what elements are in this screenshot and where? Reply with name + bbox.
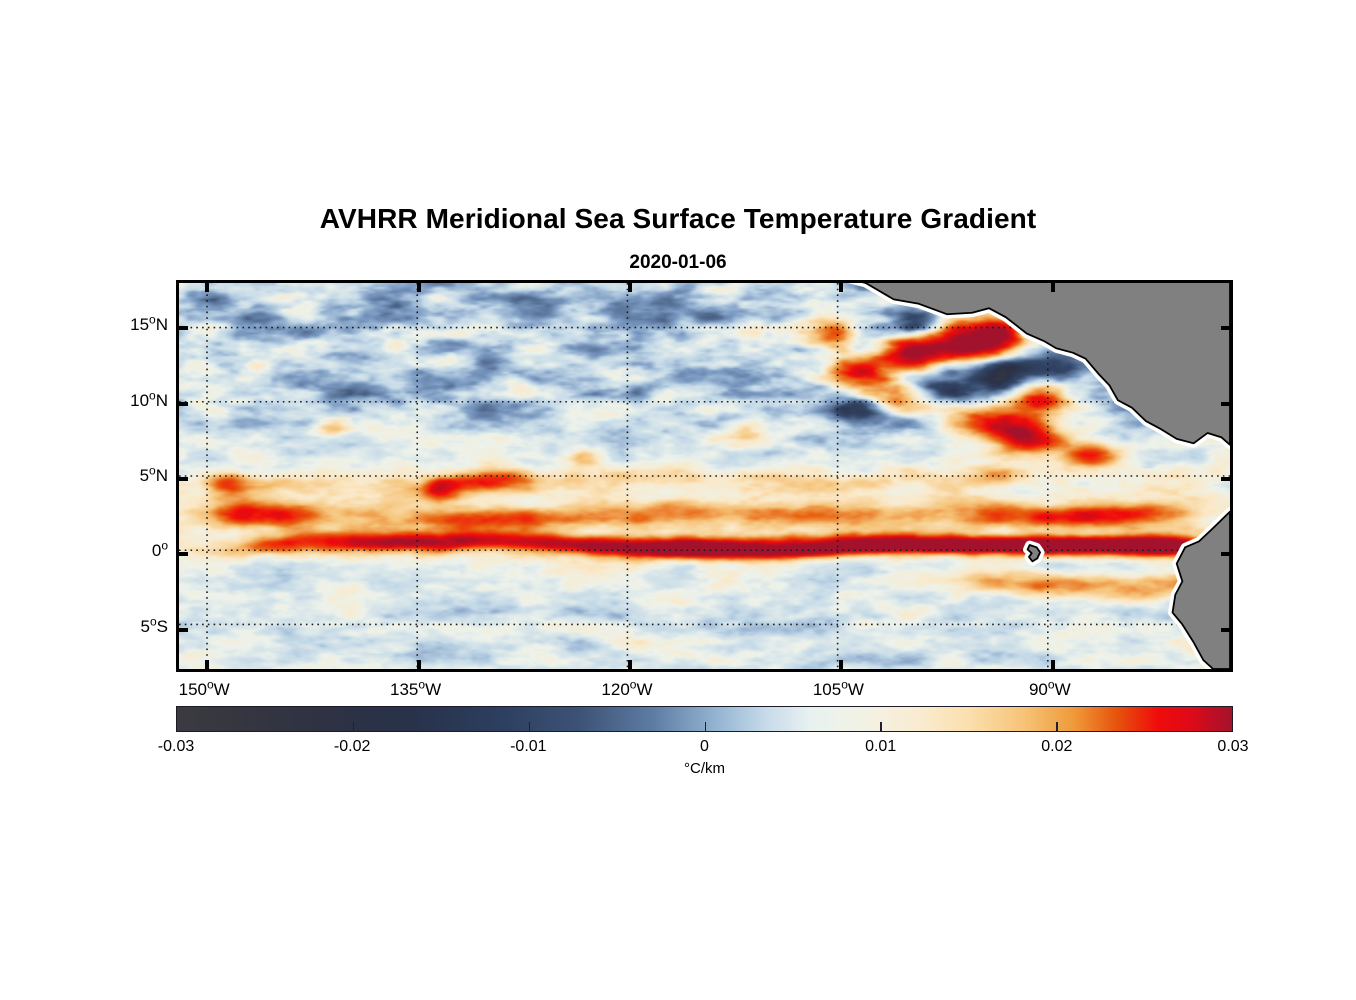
x-tick-label: 120oW: [601, 680, 652, 700]
y-tick-label: 5oN: [140, 466, 168, 486]
colorbar-tick-label: 0.01: [865, 738, 896, 756]
axis-tick-mark: [179, 552, 188, 556]
axis-tick-mark: [1221, 628, 1230, 632]
axis-tick-mark: [179, 326, 188, 330]
axis-tick-mark: [628, 283, 632, 292]
axis-tick-mark: [179, 628, 188, 632]
colorbar-tick-label: -0.02: [334, 738, 370, 756]
colorbar-tick: [880, 722, 882, 731]
axis-tick-mark: [1221, 326, 1230, 330]
y-tick-label: 10oN: [130, 391, 168, 411]
axis-tick-mark: [1051, 660, 1055, 669]
y-tick-label: 5oS: [141, 617, 169, 637]
colorbar-tick: [353, 722, 355, 731]
x-axis-tick-labels: 150oW135oW120oW105oW90oW: [176, 680, 1233, 706]
axis-tick-mark: [417, 283, 421, 292]
colorbar-tick: [1056, 722, 1058, 731]
figure-subtitle: 2020-01-06: [0, 252, 1356, 274]
axis-tick-mark: [179, 477, 188, 481]
axis-tick-mark: [1051, 283, 1055, 292]
axis-tick-mark: [628, 660, 632, 669]
colorbar-unit-label: °C/km: [176, 760, 1233, 777]
colorbar-tick-label: 0.02: [1041, 738, 1072, 756]
axis-tick-mark: [205, 660, 209, 669]
sst-gradient-heatmap: [179, 283, 1230, 669]
axis-tick-mark: [205, 283, 209, 292]
colorbar-tick-label: -0.01: [510, 738, 546, 756]
axis-tick-mark: [839, 660, 843, 669]
y-tick-label: 15oN: [130, 315, 168, 335]
axis-tick-mark: [1221, 477, 1230, 481]
colorbar: [176, 706, 1233, 732]
axis-tick-mark: [1221, 552, 1230, 556]
colorbar-tick-label: -0.03: [158, 738, 194, 756]
figure-canvas: AVHRR Meridional Sea Surface Temperature…: [0, 0, 1356, 1000]
y-tick-label: 0o: [152, 541, 168, 561]
x-tick-label: 105oW: [813, 680, 864, 700]
colorbar-tick: [529, 722, 531, 731]
colorbar-tick-labels: -0.03-0.02-0.0100.010.020.03: [176, 738, 1233, 762]
axis-tick-mark: [839, 283, 843, 292]
colorbar-tick-label: 0.03: [1217, 738, 1248, 756]
x-tick-label: 135oW: [390, 680, 441, 700]
x-tick-label: 150oW: [179, 680, 230, 700]
axis-tick-mark: [179, 402, 188, 406]
map-axes: [176, 280, 1233, 672]
y-axis-tick-labels: 15oN10oN5oN0o5oS: [110, 280, 168, 672]
x-tick-label: 90oW: [1029, 680, 1071, 700]
map-plot-area: [179, 283, 1230, 669]
axis-tick-mark: [417, 660, 421, 669]
figure-title: AVHRR Meridional Sea Surface Temperature…: [0, 203, 1356, 235]
axis-tick-mark: [1221, 402, 1230, 406]
colorbar-tick-label: 0: [700, 738, 709, 756]
colorbar-tick: [705, 722, 707, 731]
